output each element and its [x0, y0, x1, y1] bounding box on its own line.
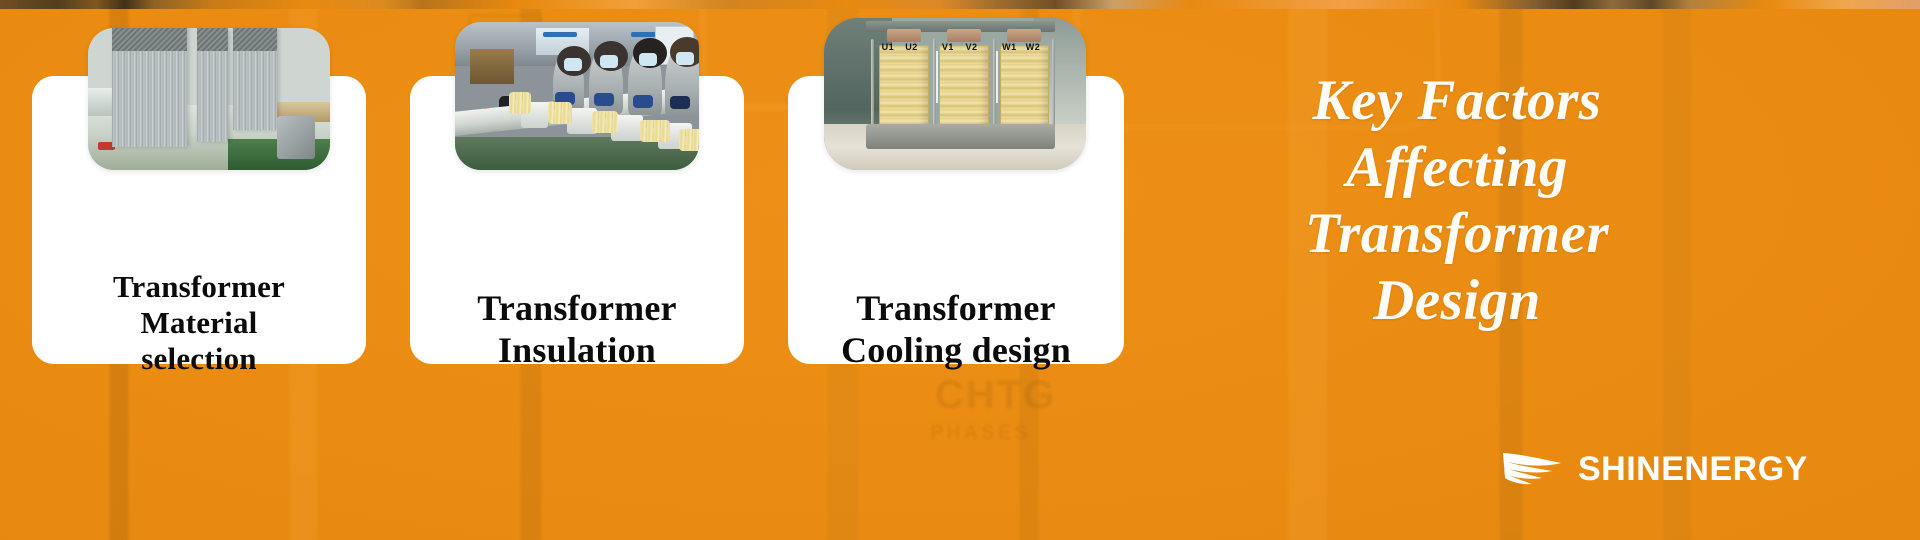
- headline: Key Factors Affecting Transformer Design: [1152, 68, 1762, 335]
- headline-line-2: Affecting: [1152, 135, 1762, 202]
- photo3-label-v2: V2: [965, 42, 977, 52]
- card-2-title: Transformer Insulation: [410, 288, 744, 372]
- wing-swoosh-icon: [1502, 449, 1564, 489]
- card-1-title-line3: selection: [32, 341, 366, 377]
- card-1-title-line1: Transformer: [32, 269, 366, 305]
- photo3-label-w2: W2: [1026, 42, 1041, 52]
- photo3-label-u1: U1: [882, 42, 895, 52]
- headline-line-1: Key Factors: [1152, 68, 1762, 135]
- card-2-photo-insulation-workers: [455, 22, 699, 170]
- card-1-title-line2: Material: [32, 305, 366, 341]
- card-2-title-line1: Transformer: [410, 288, 744, 330]
- photo3-label-u2: U2: [905, 42, 918, 52]
- card-3-title: Transformer Cooling design: [788, 288, 1124, 372]
- card-3-title-line2: Cooling design: [788, 330, 1124, 372]
- card-3-photo-cooling-transformer: U1 U2 V1 V2 W1 W2: [824, 18, 1086, 170]
- headline-line-4: Design: [1152, 268, 1762, 335]
- brand-logo-text: SHINENERGY: [1578, 450, 1808, 489]
- headline-line-3: Transformer: [1152, 201, 1762, 268]
- card-2-title-line2: Insulation: [410, 330, 744, 372]
- card-1-photo-material-laminations: [88, 28, 330, 170]
- card-3-title-line1: Transformer: [788, 288, 1124, 330]
- brand-logo[interactable]: SHINENERGY: [1502, 449, 1808, 489]
- card-1-title: Transformer Material selection: [32, 269, 366, 377]
- photo3-label-v1: V1: [942, 42, 954, 52]
- photo3-label-w1: W1: [1002, 42, 1017, 52]
